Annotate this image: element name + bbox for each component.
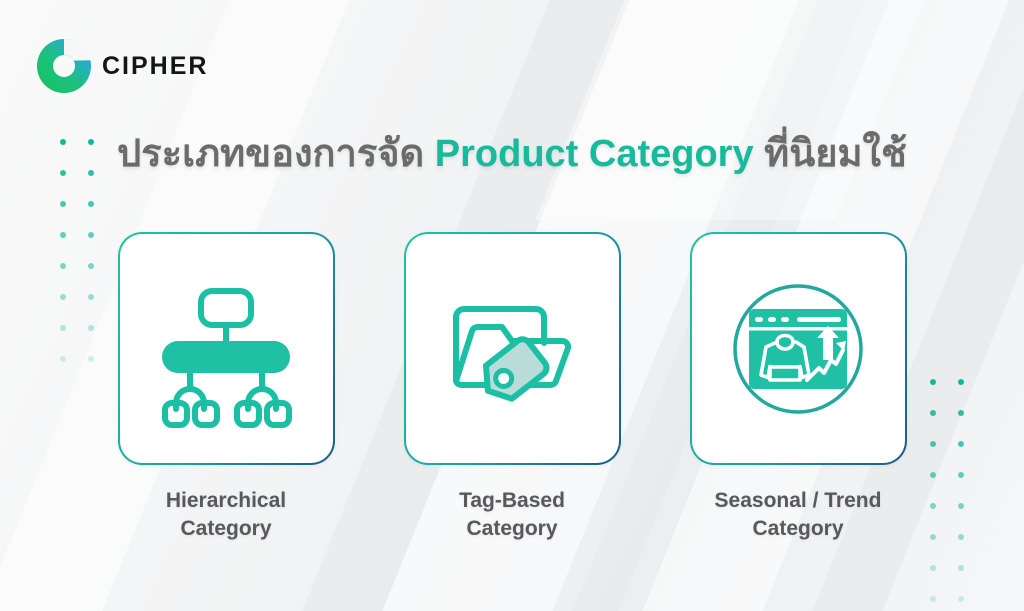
title-segment-suffix: ที่นิยมใช้	[754, 133, 907, 175]
title-segment-highlight: Product Category	[435, 133, 754, 175]
page-title: ประเภทของการจัด Product Category ที่นิยม…	[0, 122, 1024, 183]
hierarchy-tree-icon	[142, 265, 310, 433]
decorative-dot	[930, 596, 936, 602]
category-card-row: Hierarchical Category Tag-Based Category	[0, 232, 1024, 542]
decorative-dot	[930, 565, 936, 571]
category-item-hierarchical: Hierarchical Category	[118, 232, 335, 542]
brand-logo: CIPHER	[36, 38, 208, 94]
decorative-dot	[958, 565, 964, 571]
category-card[interactable]	[404, 232, 621, 465]
decorative-dot	[958, 596, 964, 602]
title-segment-prefix: ประเภทของการจัด	[117, 133, 435, 175]
category-label: Seasonal / Trend Category	[715, 487, 882, 542]
folder-tag-icon	[428, 265, 596, 433]
category-item-seasonal-trend: Seasonal / Trend Category	[690, 232, 907, 542]
brand-name: CIPHER	[102, 52, 208, 81]
category-card[interactable]	[118, 232, 335, 465]
cipher-circle-logo-icon	[36, 38, 92, 94]
decorative-dot	[60, 201, 66, 207]
category-card[interactable]	[690, 232, 907, 465]
decorative-dot	[88, 201, 94, 207]
category-label: Tag-Based Category	[459, 487, 565, 542]
browser-trend-sweater-icon	[714, 265, 882, 433]
category-item-tag-based: Tag-Based Category	[404, 232, 621, 542]
category-label: Hierarchical Category	[166, 487, 286, 542]
